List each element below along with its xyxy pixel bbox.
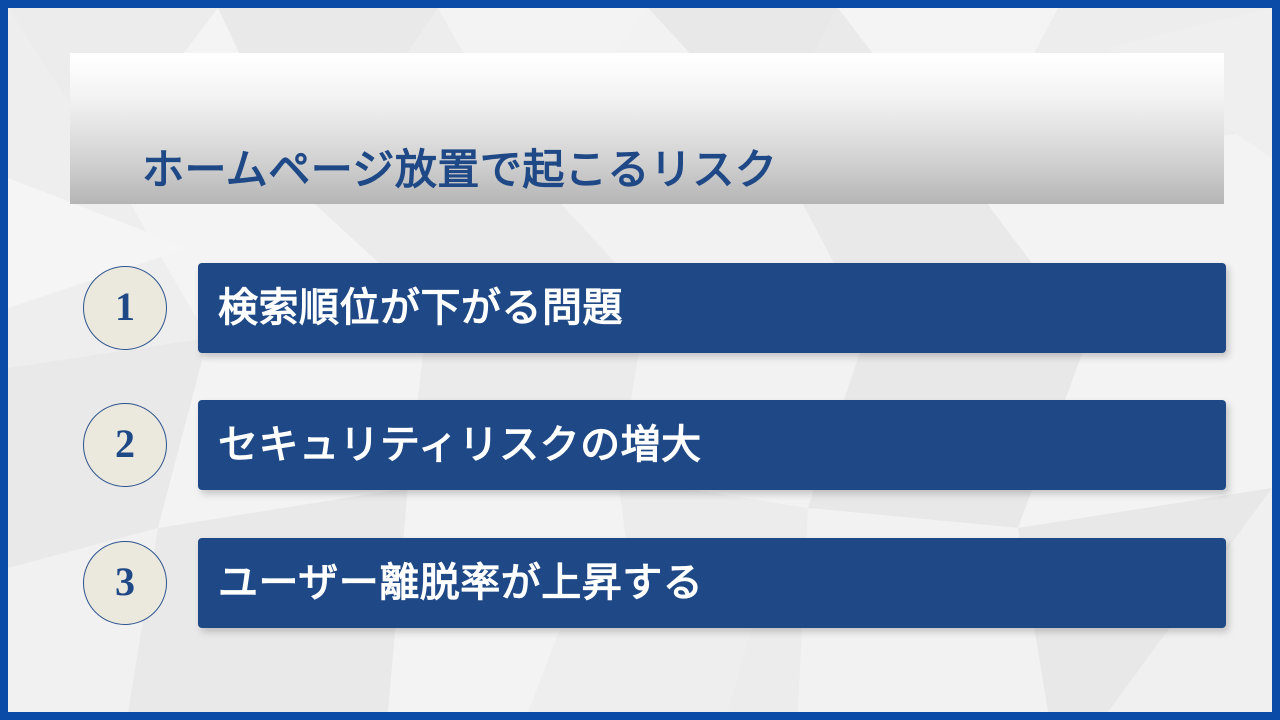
- slide-inner-canvas: ホームページ放置で起こるリスク 1 検索順位が下がる問題 2 セキュリティリスク…: [8, 8, 1272, 712]
- item-number-badge: 2: [83, 403, 167, 487]
- item-bar[interactable]: 検索順位が下がる問題: [198, 263, 1226, 353]
- list-item[interactable]: 3 ユーザー離脱率が上昇する: [70, 538, 1226, 630]
- list-item[interactable]: 2 セキュリティリスクの増大: [70, 400, 1226, 492]
- item-number-label: 1: [115, 287, 135, 329]
- slide-canvas: ホームページ放置で起こるリスク 1 検索順位が下がる問題 2 セキュリティリスク…: [0, 0, 1280, 720]
- item-label: ユーザー離脱率が上昇する: [198, 563, 703, 603]
- item-bar[interactable]: セキュリティリスクの増大: [198, 400, 1226, 490]
- item-number-label: 2: [115, 424, 135, 466]
- title-banner: ホームページ放置で起こるリスク: [70, 53, 1224, 204]
- item-number-badge: 1: [83, 266, 167, 350]
- list-item[interactable]: 1 検索順位が下がる問題: [70, 263, 1226, 355]
- item-number-badge: 3: [83, 541, 167, 625]
- item-number-label: 3: [115, 562, 135, 604]
- page-title: ホームページ放置で起こるリスク: [142, 149, 777, 191]
- item-label: 検索順位が下がる問題: [198, 288, 623, 328]
- item-bar[interactable]: ユーザー離脱率が上昇する: [198, 538, 1226, 628]
- item-label: セキュリティリスクの増大: [198, 425, 702, 465]
